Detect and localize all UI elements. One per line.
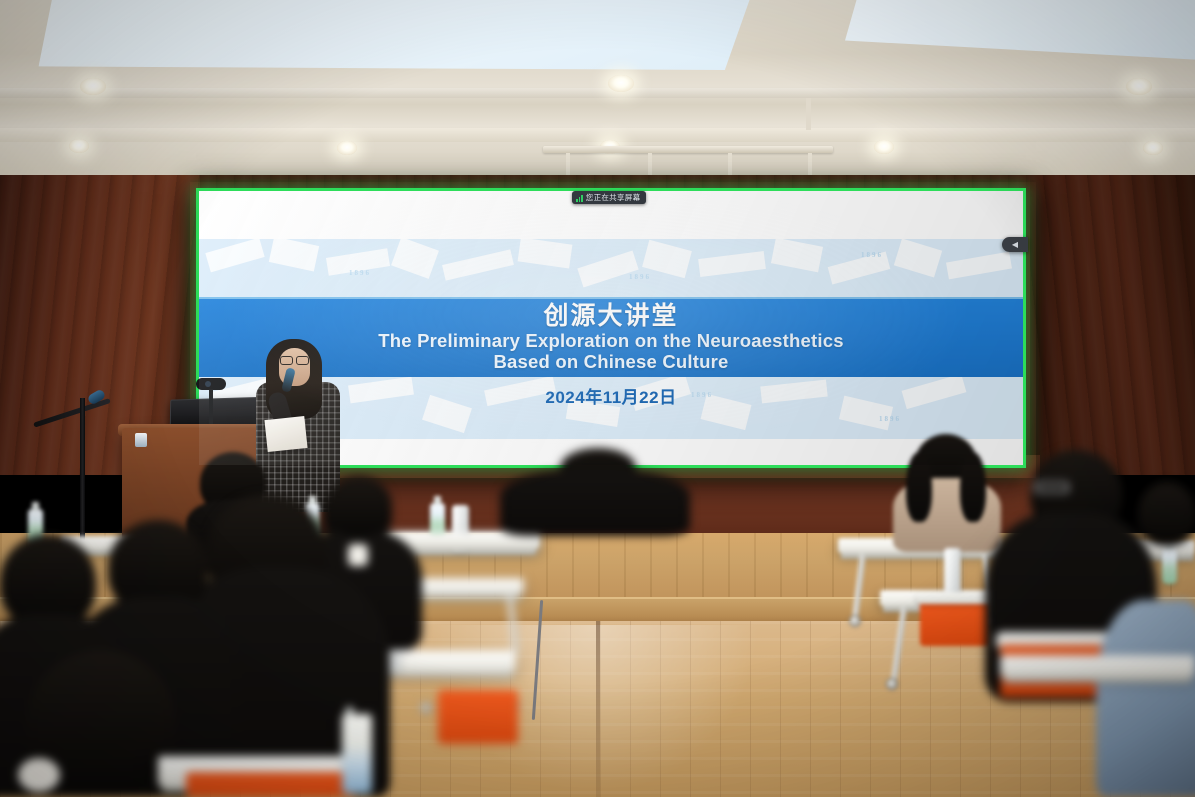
water-bottle [342, 714, 372, 794]
collapse-panel-button[interactable]: ◀ [1002, 237, 1028, 252]
slide-pattern-year: 1896 [879, 415, 901, 423]
audience-person [1096, 600, 1195, 797]
eyeglasses-icon [280, 356, 309, 363]
slide-title-chinese: 创源大讲堂 [543, 303, 678, 330]
desk-caster [849, 615, 861, 627]
ceiling-light-panel-left [38, 0, 756, 70]
water-bottle [1162, 548, 1177, 584]
downlight-icon [874, 140, 894, 154]
slide-title-english-line1: The Preliminary Exploration on the Neuro… [378, 331, 843, 352]
chair [438, 690, 518, 744]
mic-pole [80, 398, 85, 548]
cup [135, 433, 147, 447]
slide-pattern-year: 1896 [629, 273, 651, 281]
slide-pattern-top: 1896 1896 1896 [199, 239, 1023, 301]
back-wall-right [1030, 175, 1195, 475]
downlight-icon [69, 139, 89, 153]
signal-bars-icon [576, 194, 583, 202]
lecture-hall-photo: 1896 1896 1896 创源大讲堂 The Preliminary Exp… [0, 0, 1195, 797]
desk-caster [886, 678, 898, 690]
downlight-icon [608, 75, 634, 92]
eyeglasses-icon [1035, 482, 1069, 493]
audience-person [500, 470, 690, 536]
chair [920, 600, 990, 646]
downlight-icon [80, 78, 106, 95]
chevron-left-icon: ◀ [1012, 240, 1018, 249]
audience-hair [906, 452, 932, 522]
ceiling-cove-lower [0, 128, 1195, 142]
ceiling-light-panel-right [845, 0, 1195, 64]
hair-clip [348, 544, 368, 566]
audience-hair [960, 452, 986, 522]
screen-share-indicator[interactable]: 您正在共享屏幕 [572, 191, 646, 204]
downlight-icon [1143, 141, 1163, 155]
thermos [944, 548, 961, 594]
audience-head [1138, 482, 1195, 546]
ceiling-cove-upper [0, 88, 1195, 98]
lighting-track [543, 146, 833, 153]
hair-scrunchie [18, 758, 60, 792]
downlight-icon [337, 141, 357, 155]
slide-pattern-year: 1896 [861, 251, 883, 259]
chair-back [916, 592, 994, 604]
slide-title-english-line2: Based on Chinese Culture [493, 352, 728, 373]
floor-aisle-line [596, 621, 600, 797]
ceiling [0, 0, 1195, 180]
presenter-notes [264, 416, 307, 452]
ceiling-hanger [806, 98, 811, 130]
slide-title-band: 创源大讲堂 The Preliminary Exploration on the… [199, 297, 1023, 379]
screen-share-label: 您正在共享屏幕 [586, 192, 641, 203]
desk-caster [420, 702, 432, 714]
audience-head [326, 476, 392, 536]
chair [186, 772, 356, 797]
desk [1000, 655, 1195, 677]
downlight-icon [1126, 78, 1152, 95]
slide-pattern-year: 1896 [349, 269, 371, 277]
